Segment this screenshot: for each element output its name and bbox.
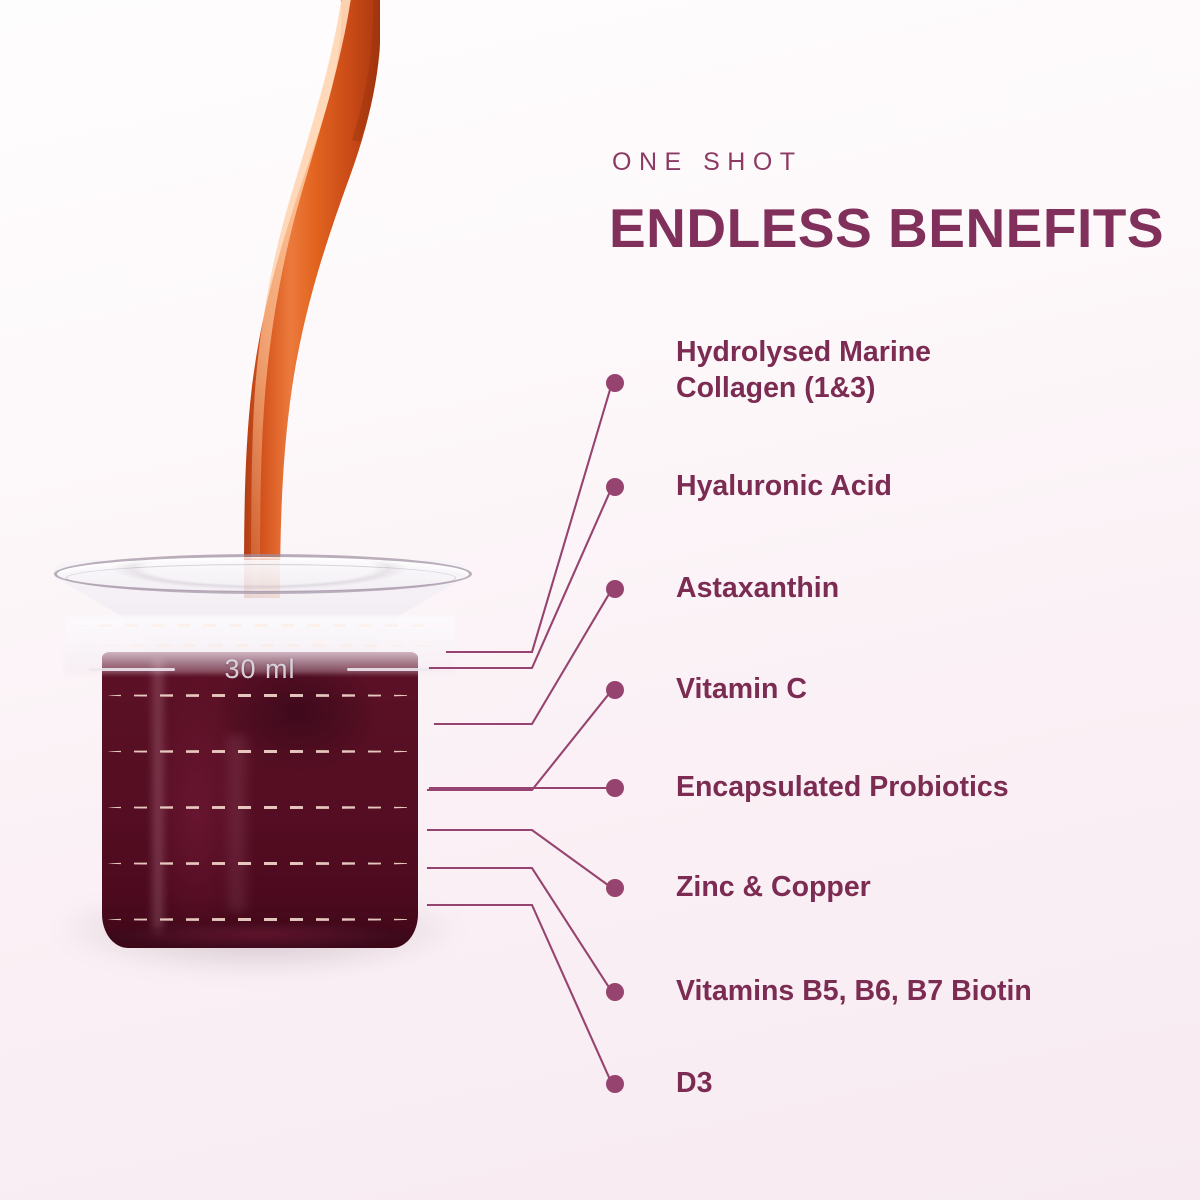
callout-dot-probiotics bbox=[606, 779, 624, 797]
connector-line bbox=[447, 383, 612, 652]
benefit-label-astaxanthin: Astaxanthin bbox=[676, 570, 839, 606]
product-benefits-graphic: 30 ml ONE SHOT ENDLESS BENEFITS Hydrolys… bbox=[0, 0, 1200, 1200]
callout-dot-collagen bbox=[606, 374, 624, 392]
callout-dot-b-vitamins bbox=[606, 983, 624, 1001]
connector-line bbox=[430, 487, 612, 668]
callout-connectors bbox=[0, 0, 1200, 1200]
benefit-label-collagen: Hydrolysed Marine Collagen (1&3) bbox=[676, 334, 931, 406]
callout-dot-zinc-copper bbox=[606, 879, 624, 897]
benefit-label-hyaluronic: Hyaluronic Acid bbox=[676, 468, 892, 504]
page-title: ENDLESS BENEFITS bbox=[609, 196, 1164, 260]
callout-dot-hyaluronic bbox=[606, 478, 624, 496]
benefit-label-vitamin-c: Vitamin C bbox=[676, 671, 807, 707]
benefit-label-d3: D3 bbox=[676, 1065, 712, 1101]
benefit-label-zinc-copper: Zinc & Copper bbox=[676, 869, 871, 905]
connector-line bbox=[428, 690, 612, 790]
callout-dot-d3 bbox=[606, 1075, 624, 1093]
benefit-label-probiotics: Encapsulated Probiotics bbox=[676, 769, 1009, 805]
benefit-label-b-vitamins: Vitamins B5, B6, B7 Biotin bbox=[676, 973, 1032, 1009]
connector-line bbox=[428, 868, 612, 992]
callout-dot-vitamin-c bbox=[606, 681, 624, 699]
connector-line bbox=[428, 905, 612, 1084]
eyebrow-text: ONE SHOT bbox=[612, 148, 803, 177]
callout-dot-astaxanthin bbox=[606, 580, 624, 598]
connector-line bbox=[435, 589, 612, 724]
connector-line bbox=[428, 830, 612, 888]
